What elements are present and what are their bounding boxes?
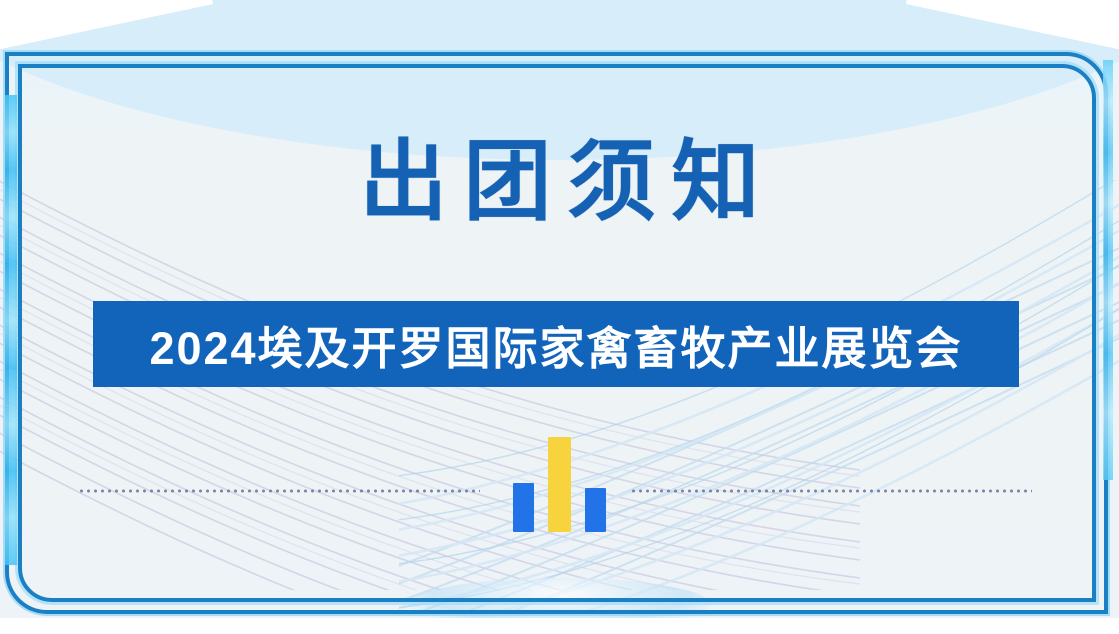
dotted-rule-right xyxy=(630,489,1032,493)
bar-chart-emblem xyxy=(509,436,609,532)
slide-canvas: 出团须知 2024埃及开罗国际家禽畜牧产业展览会 xyxy=(0,0,1119,634)
dotted-rule-left xyxy=(78,489,480,493)
slide-content: 出团须知 2024埃及开罗国际家禽畜牧产业展览会 xyxy=(0,0,1119,634)
page-title: 出团须知 xyxy=(0,136,1119,228)
emblem-bar-left xyxy=(513,483,534,532)
subtitle-text: 2024埃及开罗国际家禽畜牧产业展览会 xyxy=(149,312,962,377)
emblem-bar-right xyxy=(585,488,606,532)
emblem-bar-center xyxy=(548,437,571,532)
subtitle-banner: 2024埃及开罗国际家禽畜牧产业展览会 xyxy=(93,301,1019,387)
